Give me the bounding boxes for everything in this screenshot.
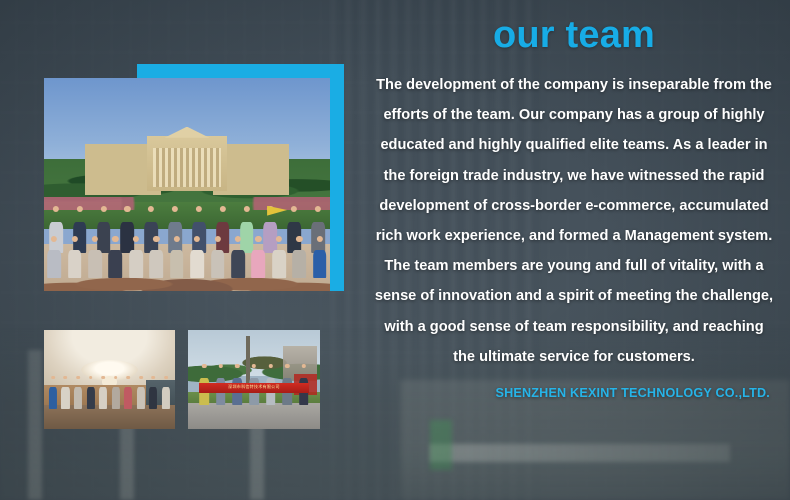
lobby-people [47, 376, 173, 410]
team-outdoor-banner-photo: 深圳市科信特技术有限公司 [188, 330, 320, 429]
person [149, 376, 158, 410]
person [47, 236, 62, 279]
text-content-column: our team The development of the company … [358, 0, 790, 500]
person [128, 236, 143, 279]
person [292, 236, 307, 279]
person [48, 376, 57, 410]
person [162, 376, 171, 410]
photo-palace-columns [153, 148, 222, 186]
person [61, 376, 70, 410]
person [111, 376, 120, 410]
photo-people-front-row [44, 236, 330, 279]
company-name-label: SHENZHEN KEXINT TECHNOLOGY CO.,LTD. [372, 386, 776, 400]
slide-root: 深圳市科信特技术有限公司 our team The development of… [0, 0, 790, 500]
person [169, 236, 184, 279]
person [99, 376, 108, 410]
team-indoor-lobby-photo [44, 330, 175, 429]
outdoor-road [188, 403, 320, 429]
person [108, 236, 123, 279]
outdoor-red-banner: 深圳市科信特技术有限公司 [199, 383, 310, 394]
person [88, 236, 103, 279]
person [124, 376, 133, 410]
person [86, 376, 95, 410]
person [271, 236, 286, 279]
person [149, 236, 164, 279]
person [251, 236, 266, 279]
person [67, 236, 82, 279]
outdoor-banner-text: 深圳市科信特技术有限公司 [199, 383, 310, 391]
person [190, 236, 205, 279]
person [231, 236, 246, 279]
person [74, 376, 83, 410]
person [136, 376, 145, 410]
page-title: our team [493, 16, 655, 54]
team-description-text: The development of the company is insepa… [372, 70, 776, 372]
person [210, 236, 225, 279]
person [312, 236, 327, 279]
team-group-photo-palace [44, 78, 330, 291]
